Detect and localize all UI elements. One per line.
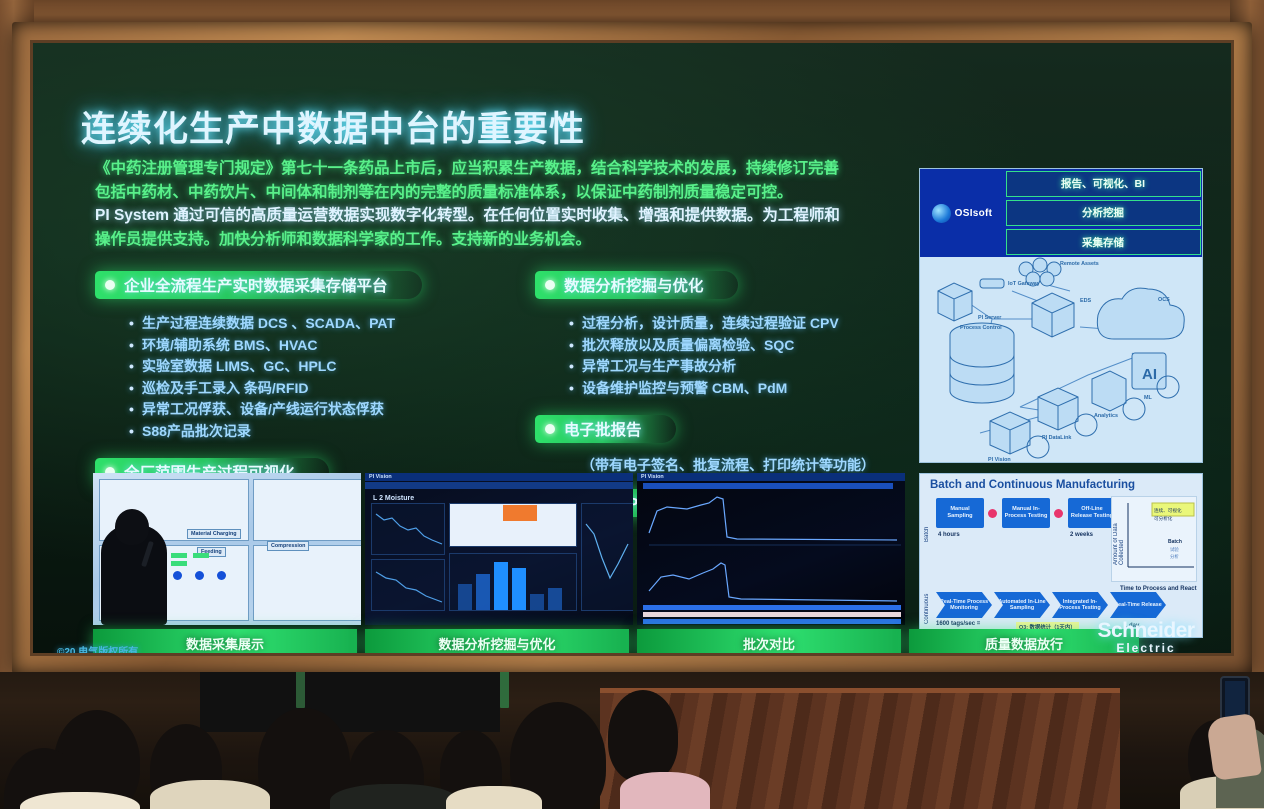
dashboard-trend-1 [371, 503, 445, 555]
stack-box-analytics: 分析挖掘 [1006, 200, 1201, 226]
continuous-step-3: Integrated In-Process Testing [1052, 592, 1108, 618]
section-heading-analytics: 数据分析挖掘与优化 [535, 271, 738, 299]
stack-box-collection: 采集存储 [1006, 229, 1201, 255]
stop-marker-icon [988, 509, 997, 518]
bullet-dot-icon [545, 280, 555, 290]
bottle [296, 672, 305, 708]
list-item: 设备维护监控与预警 CBM、PdM [569, 378, 935, 400]
bullet-list-data-platform: 生产过程连续数据 DCS 、SCADA、PAT 环境/辅助系统 BMS、HVAC… [129, 313, 515, 442]
conference-room: 连续化生产中数据中台的重要性 《中药注册管理专门规定》第七十一条药品上市后，应当… [0, 0, 1264, 809]
section-heading-label: 数据分析挖掘与优化 [564, 274, 704, 296]
data-volume-chart: 连续、可视化 可分析化 Batch 试验 分析 Amount of Data C… [1111, 496, 1197, 582]
audience-shoulder [150, 780, 270, 809]
list-item: 环境/辅助系统 BMS、HVAC [129, 335, 515, 357]
screen-frame: 连续化生产中数据中台的重要性 《中药注册管理专门规定》第七十一条药品上市后，应当… [12, 22, 1252, 674]
list-item: 巡检及手工录入 条码/RFID [129, 378, 515, 400]
list-item: 过程分析，设计质量，连续过程验证 CPV [569, 313, 935, 335]
chart-ylabel: Amount of Data Collected [1113, 507, 1125, 565]
dashboard-app-label: PI Vision [369, 474, 392, 480]
svg-text:AI: AI [1142, 366, 1157, 383]
dashboard-histogram [449, 553, 577, 611]
microphone-icon [141, 541, 154, 567]
trend-legend-row-3 [643, 619, 901, 624]
architecture-svg: Process Control IoT Gateway Remote Asset… [920, 257, 1203, 463]
svg-text:Process Control: Process Control [960, 325, 1002, 331]
svg-text:ML: ML [1144, 395, 1152, 401]
chart-xlabel: Time to Process and React [1120, 586, 1197, 592]
capability-stack: 报告、可视化、BI 分析挖掘 采集存储 [1004, 169, 1202, 257]
screen-bezel: 连续化生产中数据中台的重要性 《中药注册管理专门规定》第七十一条药品上市后，应当… [30, 40, 1234, 656]
brand-line-1: Schneider [1081, 621, 1211, 641]
osisoft-wordmark: OSIsoft [955, 208, 993, 219]
hmi-label-material-charging: Material Charging [187, 529, 241, 539]
svg-text:Batch: Batch [1168, 539, 1182, 545]
batch-step-3: Off-Line Release Testing [1068, 498, 1116, 528]
batch-time-1: 4 hours [938, 532, 960, 538]
brand-line-2: Electric [1081, 641, 1211, 655]
svg-text:Remote Assets: Remote Assets [1060, 261, 1099, 267]
audience-head [608, 690, 678, 782]
hmi-indicator-icon [195, 571, 204, 580]
batch-step-1: Manual Sampling [936, 498, 984, 528]
audience-shoulder [620, 772, 710, 809]
batch-step-2: Manual In-Process Testing [1002, 498, 1050, 528]
section-heading-data-platform: 企业全流程生产实时数据采集存储平台 [95, 271, 422, 299]
audience-area [0, 672, 1264, 809]
hmi-region-bottom-right [253, 545, 361, 621]
svg-text:IoT Gateway: IoT Gateway [1008, 281, 1040, 287]
trend-chart-top [647, 493, 903, 553]
led-screen: 连续化生产中数据中台的重要性 《中药注册管理专门规定》第七十一条药品上市后，应当… [33, 43, 1231, 653]
svg-text:Analytics: Analytics [1094, 413, 1118, 419]
thumbnail-hmi-scada: Material Charging Feeding Compression [93, 473, 361, 625]
caption-batch-compare: 批次对比 [637, 629, 901, 656]
bullet-list-analytics: 过程分析，设计质量，连续过程验证 CPV 批次释放以及质量偏离检验、SQC 异常… [569, 313, 935, 399]
hmi-swatch [193, 553, 209, 558]
trend-svg [372, 504, 446, 556]
batch-continuous-panel: Batch and Continuous Manufacturing Batch… [919, 473, 1203, 638]
svg-text:分析: 分析 [1170, 553, 1179, 560]
svg-text:连续、可视化: 连续、可视化 [1154, 507, 1182, 514]
hmi-swatch [171, 553, 187, 558]
section-heading-ebr: 电子批报告 [535, 415, 676, 443]
stop-marker-icon [1054, 509, 1063, 518]
thumbnail-dashboard: PI Vision L 2 Moisture [365, 473, 633, 625]
ebr-note: （带有电子签名、批复流程、打印统计等功能） [581, 455, 935, 475]
section-heading-label: 电子批报告 [564, 418, 642, 440]
batch-panel-title: Batch and Continuous Manufacturing [930, 479, 1202, 491]
copyright-notice: ©20 电气版权所有 [57, 643, 138, 656]
list-item: S88产品批次记录 [129, 421, 515, 443]
row-label-continuous: Continuous [924, 572, 930, 624]
osisoft-logo: OSIsoft [920, 169, 1004, 257]
continuous-step-1: Real-Time Process Monitoring [936, 592, 992, 618]
svg-text:EDS: EDS [1080, 298, 1091, 304]
slide-paragraph: 《中药注册管理专门规定》第七十一条药品上市后，应当积累生产数据，结合科学技术的发… [95, 157, 925, 251]
trend-svg [372, 560, 446, 612]
presenter-silhouette [101, 525, 167, 625]
list-item: 批次释放以及质量偏离检验、SQC [569, 335, 935, 357]
svg-text:试验: 试验 [1170, 546, 1179, 553]
histogram-svg [450, 554, 578, 612]
schneider-electric-logo: Schneider Electric 施 耐 德 电 气 [1081, 621, 1211, 656]
batch-time-2: 2 weeks [1070, 532, 1093, 538]
trend-titlebar [637, 473, 905, 481]
hmi-label-compression: Compression [267, 541, 309, 551]
screenshot-thumbnail-row: Material Charging Feeding Compression [93, 473, 905, 625]
continuous-step-2: Automated In-Line Sampling [994, 592, 1050, 618]
svg-text:OCS: OCS [1158, 297, 1170, 303]
continuous-step-4: Real-Time Release [1110, 592, 1166, 618]
dashboard-side-trend [581, 503, 633, 611]
hand-holding-phone [1206, 713, 1262, 781]
bullet-dot-icon [105, 280, 115, 290]
hmi-indicator-icon [217, 571, 226, 580]
svg-text:PI Vision: PI Vision [988, 457, 1011, 463]
bullet-dot-icon [545, 424, 555, 434]
throughput-line-1: 1600 tags/sec = [936, 621, 980, 627]
section-heading-label: 企业全流程生产实时数据采集存储平台 [124, 274, 388, 296]
trend-legend-row-1 [643, 605, 901, 610]
stack-box-reporting: 报告、可视化、BI [1006, 171, 1201, 197]
dashboard-alert-cell [503, 505, 537, 521]
presentation-slide: 连续化生产中数据中台的重要性 《中药注册管理专门规定》第七十一条药品上市后，应当… [33, 43, 1231, 653]
slide-title: 连续化生产中数据中台的重要性 [81, 101, 585, 152]
osisoft-mark-icon [932, 204, 951, 223]
dashboard-page-title: L 2 Moisture [373, 495, 414, 502]
dashboard-titlebar [365, 473, 633, 481]
trend-app-label: PI Vision [641, 474, 664, 480]
svg-text:PI Server: PI Server [978, 315, 1002, 321]
hmi-region-right [253, 479, 361, 541]
row-label-batch: Batch [924, 502, 930, 542]
list-item: 异常工况俘获、设备/产线运行状态俘获 [129, 399, 515, 421]
hmi-swatch [171, 561, 187, 566]
list-item: 实验室数据 LIMS、GC、HPLC [129, 356, 515, 378]
thumbnail-trend-compare: PI Vision [637, 473, 905, 625]
audience-shoulder [330, 784, 458, 809]
svg-text:可分析化: 可分析化 [1154, 515, 1173, 522]
paragraph-line-2: 包括中药材、中药饮片、中间体和制剂等在内的完整的质量标准体系，以保证中药制剂质量… [95, 181, 925, 205]
vendor-stack-row: OSIsoft 报告、可视化、BI 分析挖掘 采集存储 [920, 169, 1202, 257]
caption-bar-row: 数据采集展示 数据分析挖掘与优化 批次对比 质量数据放行 [93, 629, 1203, 656]
side-trend-svg [582, 504, 633, 612]
trend-toolbar [643, 483, 893, 489]
dashboard-trend-2 [371, 559, 445, 611]
dashboard-toolbar [365, 482, 633, 489]
head-table [200, 672, 500, 732]
hmi-indicator-icon [173, 571, 182, 580]
paragraph-line-4: 操作员提供支持。加快分析师和数据科学家的工作。支持新的业务机会。 [95, 228, 925, 252]
list-item: 生产过程连续数据 DCS 、SCADA、PAT [129, 313, 515, 335]
paragraph-line-3: PI System 通过可信的高质量运营数据实现数字化转型。在任何位置实时收集、… [95, 204, 925, 228]
caption-data-analytics: 数据分析挖掘与优化 [365, 629, 629, 656]
audience-shoulder [446, 786, 542, 809]
bottle [500, 672, 509, 708]
paragraph-line-1: 《中药注册管理专门规定》第七十一条药品上市后，应当积累生产数据，结合科学技术的发… [95, 157, 925, 181]
list-item: 异常工况与生产事故分析 [569, 356, 935, 378]
architecture-diagram: Process Control IoT Gateway Remote Asset… [920, 257, 1202, 463]
architecture-panel: OSIsoft 报告、可视化、BI 分析挖掘 采集存储 [919, 168, 1203, 463]
trend-legend-row-2 [643, 612, 901, 617]
